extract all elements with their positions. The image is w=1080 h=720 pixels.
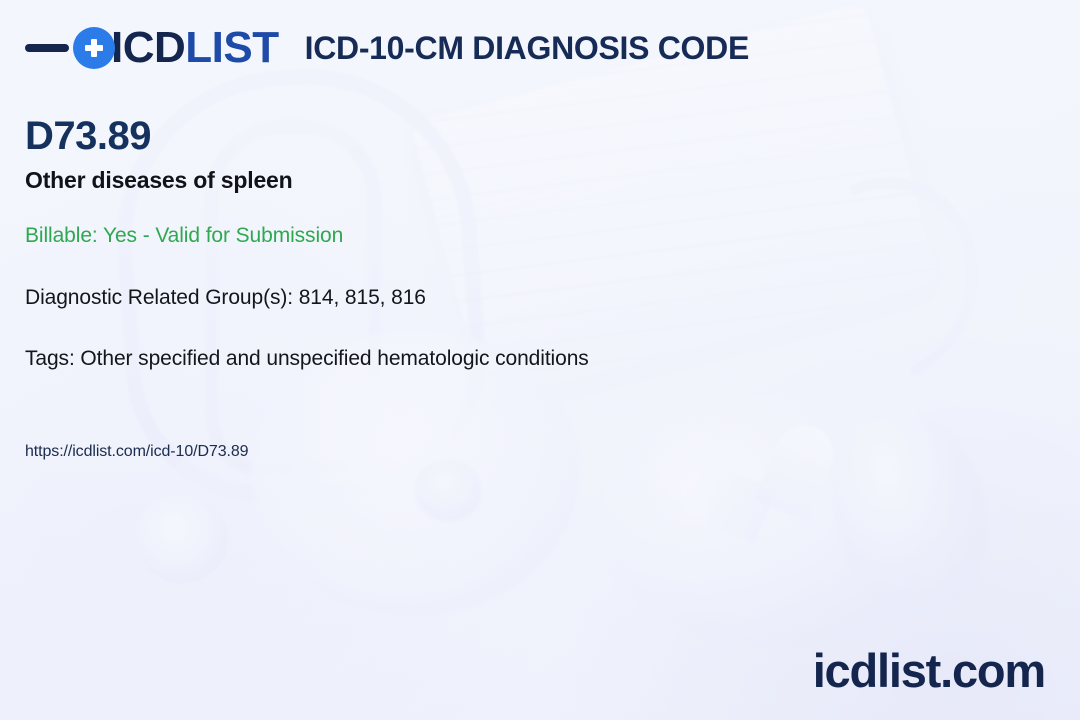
footer-brand: icdlist.com — [813, 647, 1045, 694]
foreground-content: ICDLIST ICD-10-CM DIAGNOSIS CODE D73.89 … — [0, 0, 1080, 720]
logo-text-icd: ICD — [111, 23, 185, 72]
billable-status: Billable: Yes - Valid for Submission — [25, 224, 343, 248]
plus-icon — [73, 27, 115, 69]
dash-icon — [25, 44, 69, 52]
diagnosis-description: Other diseases of spleen — [25, 167, 292, 194]
logo-text-list: LIST — [185, 23, 278, 72]
diagnosis-code: D73.89 — [25, 114, 151, 158]
icd-code-card: ICDLIST ICD-10-CM DIAGNOSIS CODE D73.89 … — [0, 0, 1080, 720]
page-title: ICD-10-CM DIAGNOSIS CODE — [305, 30, 749, 67]
header: ICDLIST ICD-10-CM DIAGNOSIS CODE — [25, 26, 749, 70]
tags-line: Tags: Other specified and unspecified he… — [25, 347, 589, 371]
icdlist-logo[interactable]: ICDLIST — [25, 26, 279, 70]
diagnostic-related-groups: Diagnostic Related Group(s): 814, 815, 8… — [25, 286, 426, 310]
source-url[interactable]: https://icdlist.com/icd-10/D73.89 — [25, 443, 248, 461]
